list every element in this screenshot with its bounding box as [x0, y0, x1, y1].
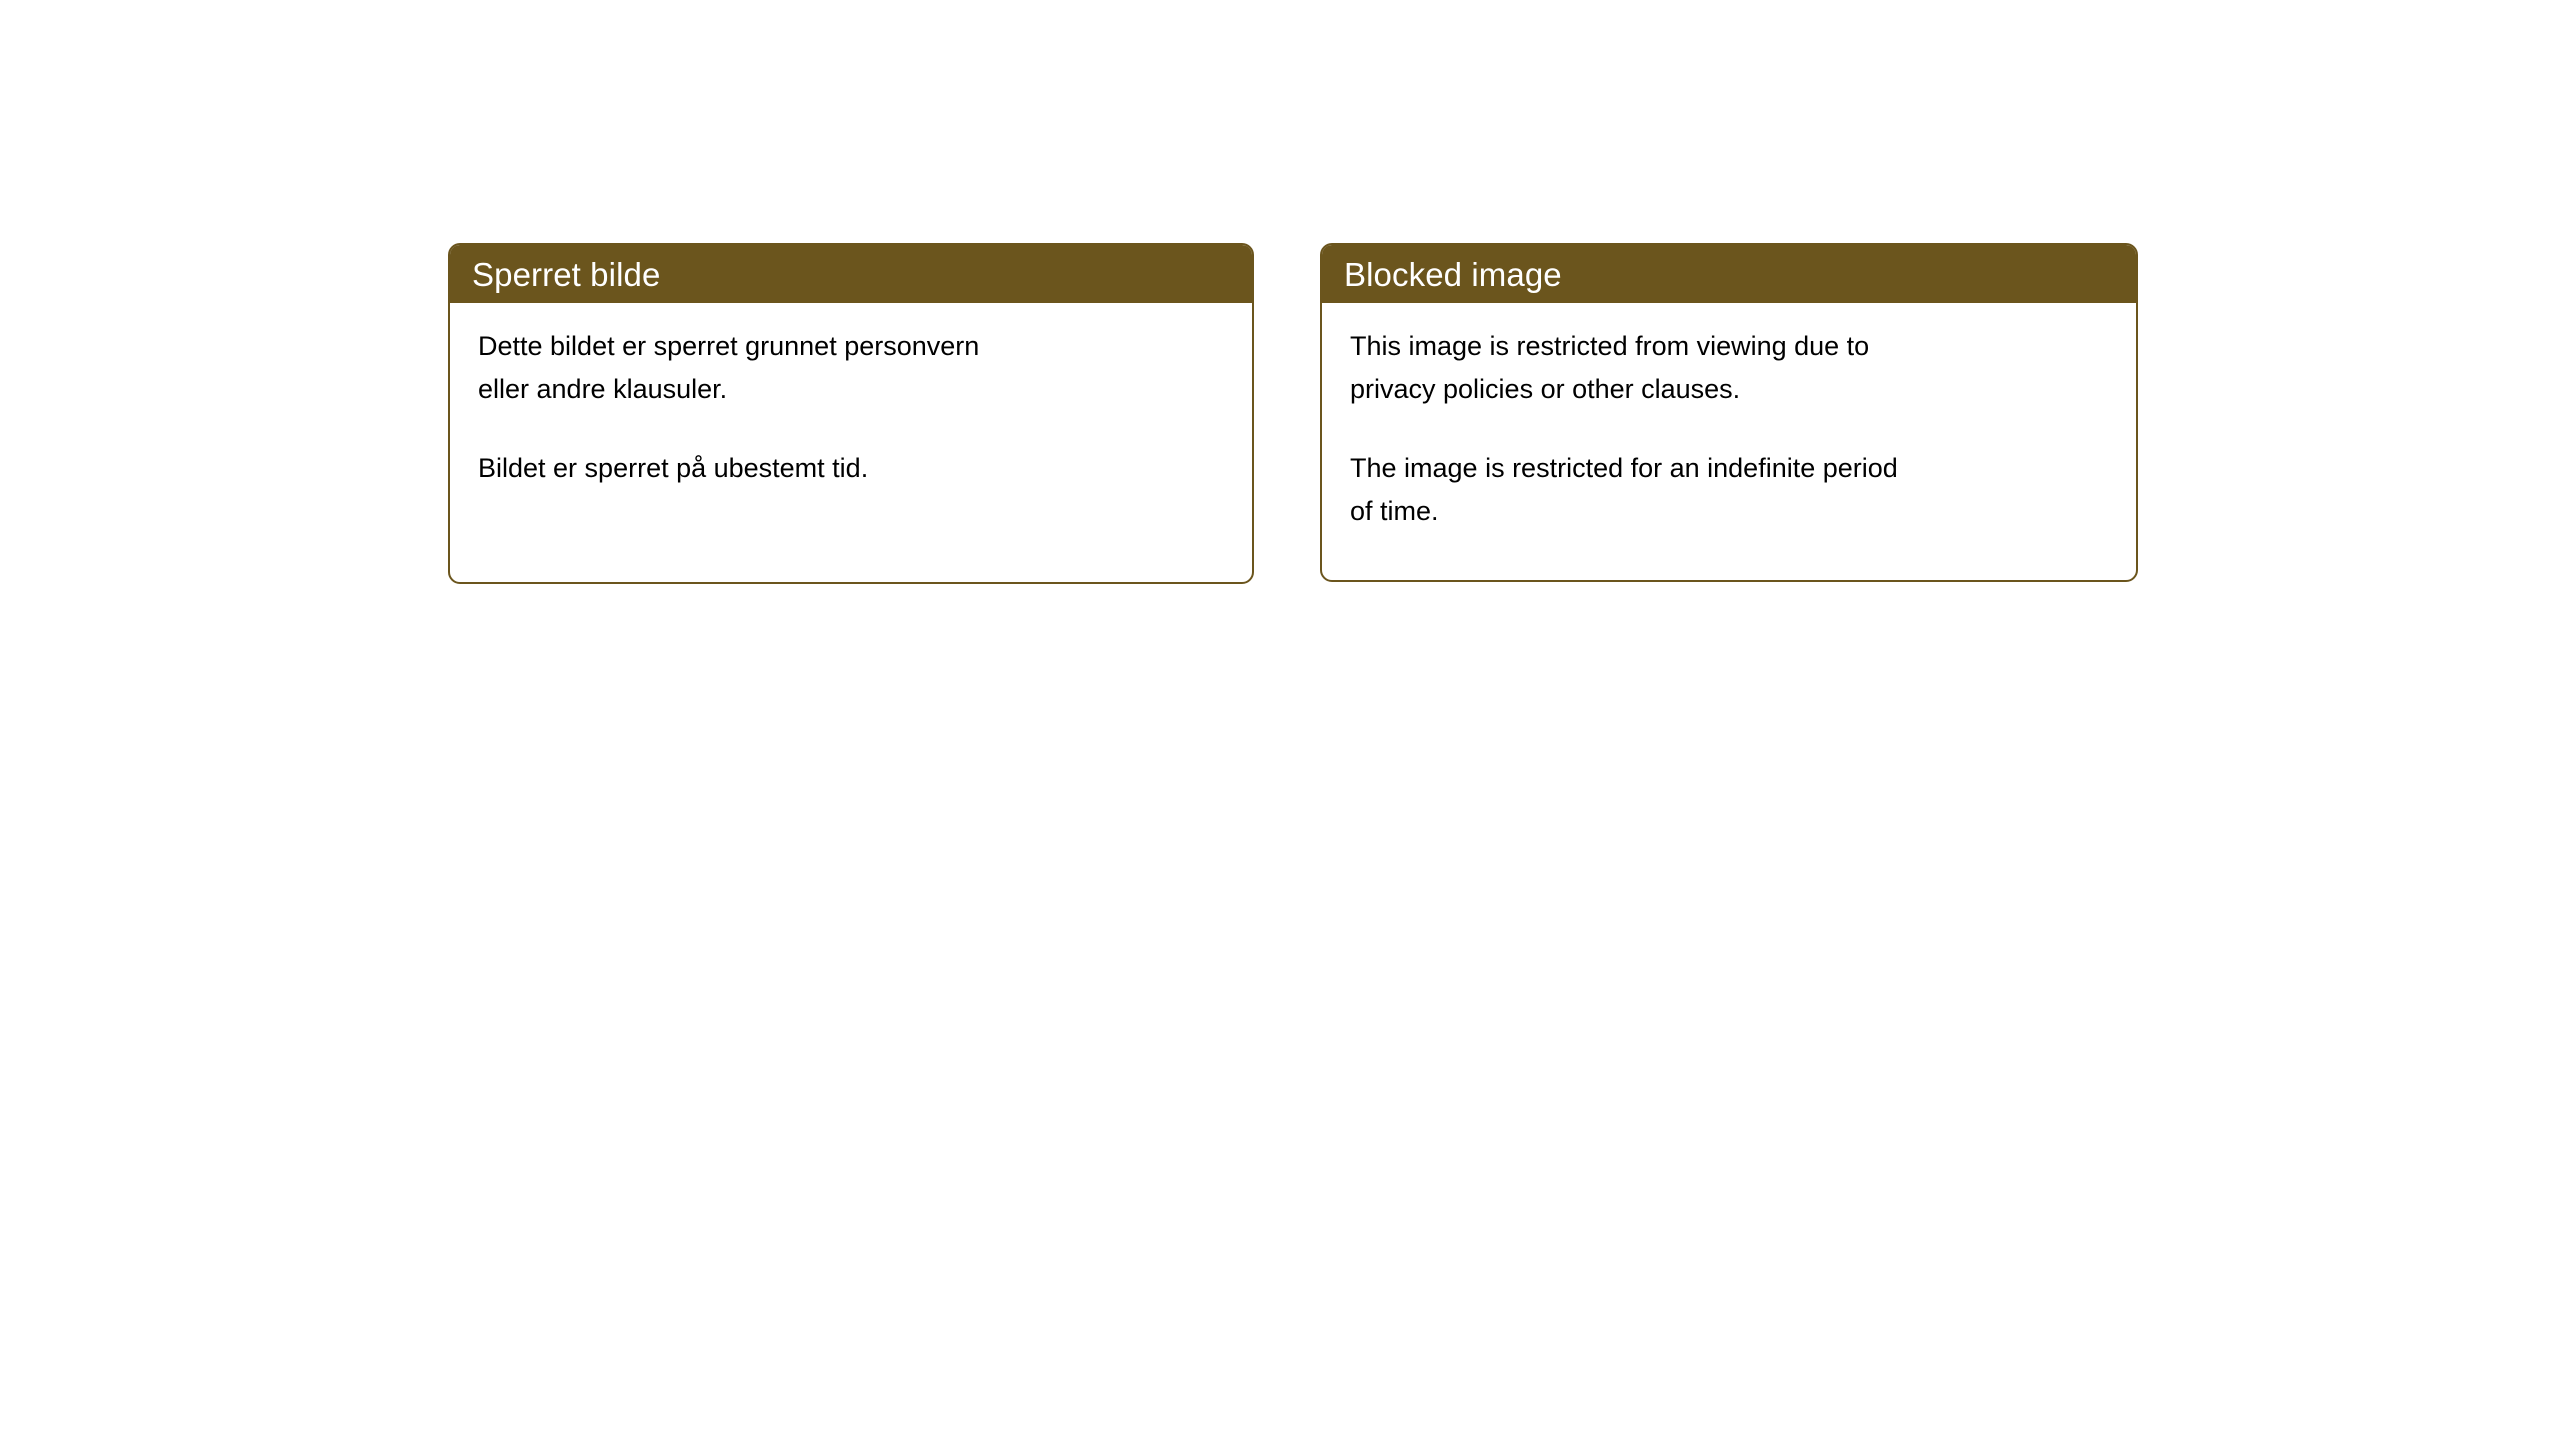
card-paragraph-duration-norwegian: Bildet er sperret på ubestemt tid.: [478, 447, 1226, 490]
card-header-norwegian: Sperret bilde: [450, 245, 1252, 303]
card-body-norwegian: Dette bildet er sperret grunnet personve…: [450, 303, 1252, 490]
card-paragraph-reason-norwegian: Dette bildet er sperret grunnet personve…: [478, 325, 1226, 411]
card-paragraph-reason-english: This image is restricted from viewing du…: [1350, 325, 2110, 411]
card-header-english: Blocked image: [1322, 245, 2136, 303]
card-body-english: This image is restricted from viewing du…: [1322, 303, 2136, 533]
card-paragraph-duration-english: The image is restricted for an indefinit…: [1350, 447, 2110, 533]
blocked-image-card-english: Blocked image This image is restricted f…: [1320, 243, 2138, 582]
page-canvas: Sperret bilde Dette bildet er sperret gr…: [0, 0, 2560, 1440]
card-title-norwegian: Sperret bilde: [472, 258, 660, 291]
card-title-english: Blocked image: [1344, 258, 1562, 291]
blocked-image-card-norwegian: Sperret bilde Dette bildet er sperret gr…: [448, 243, 1254, 584]
